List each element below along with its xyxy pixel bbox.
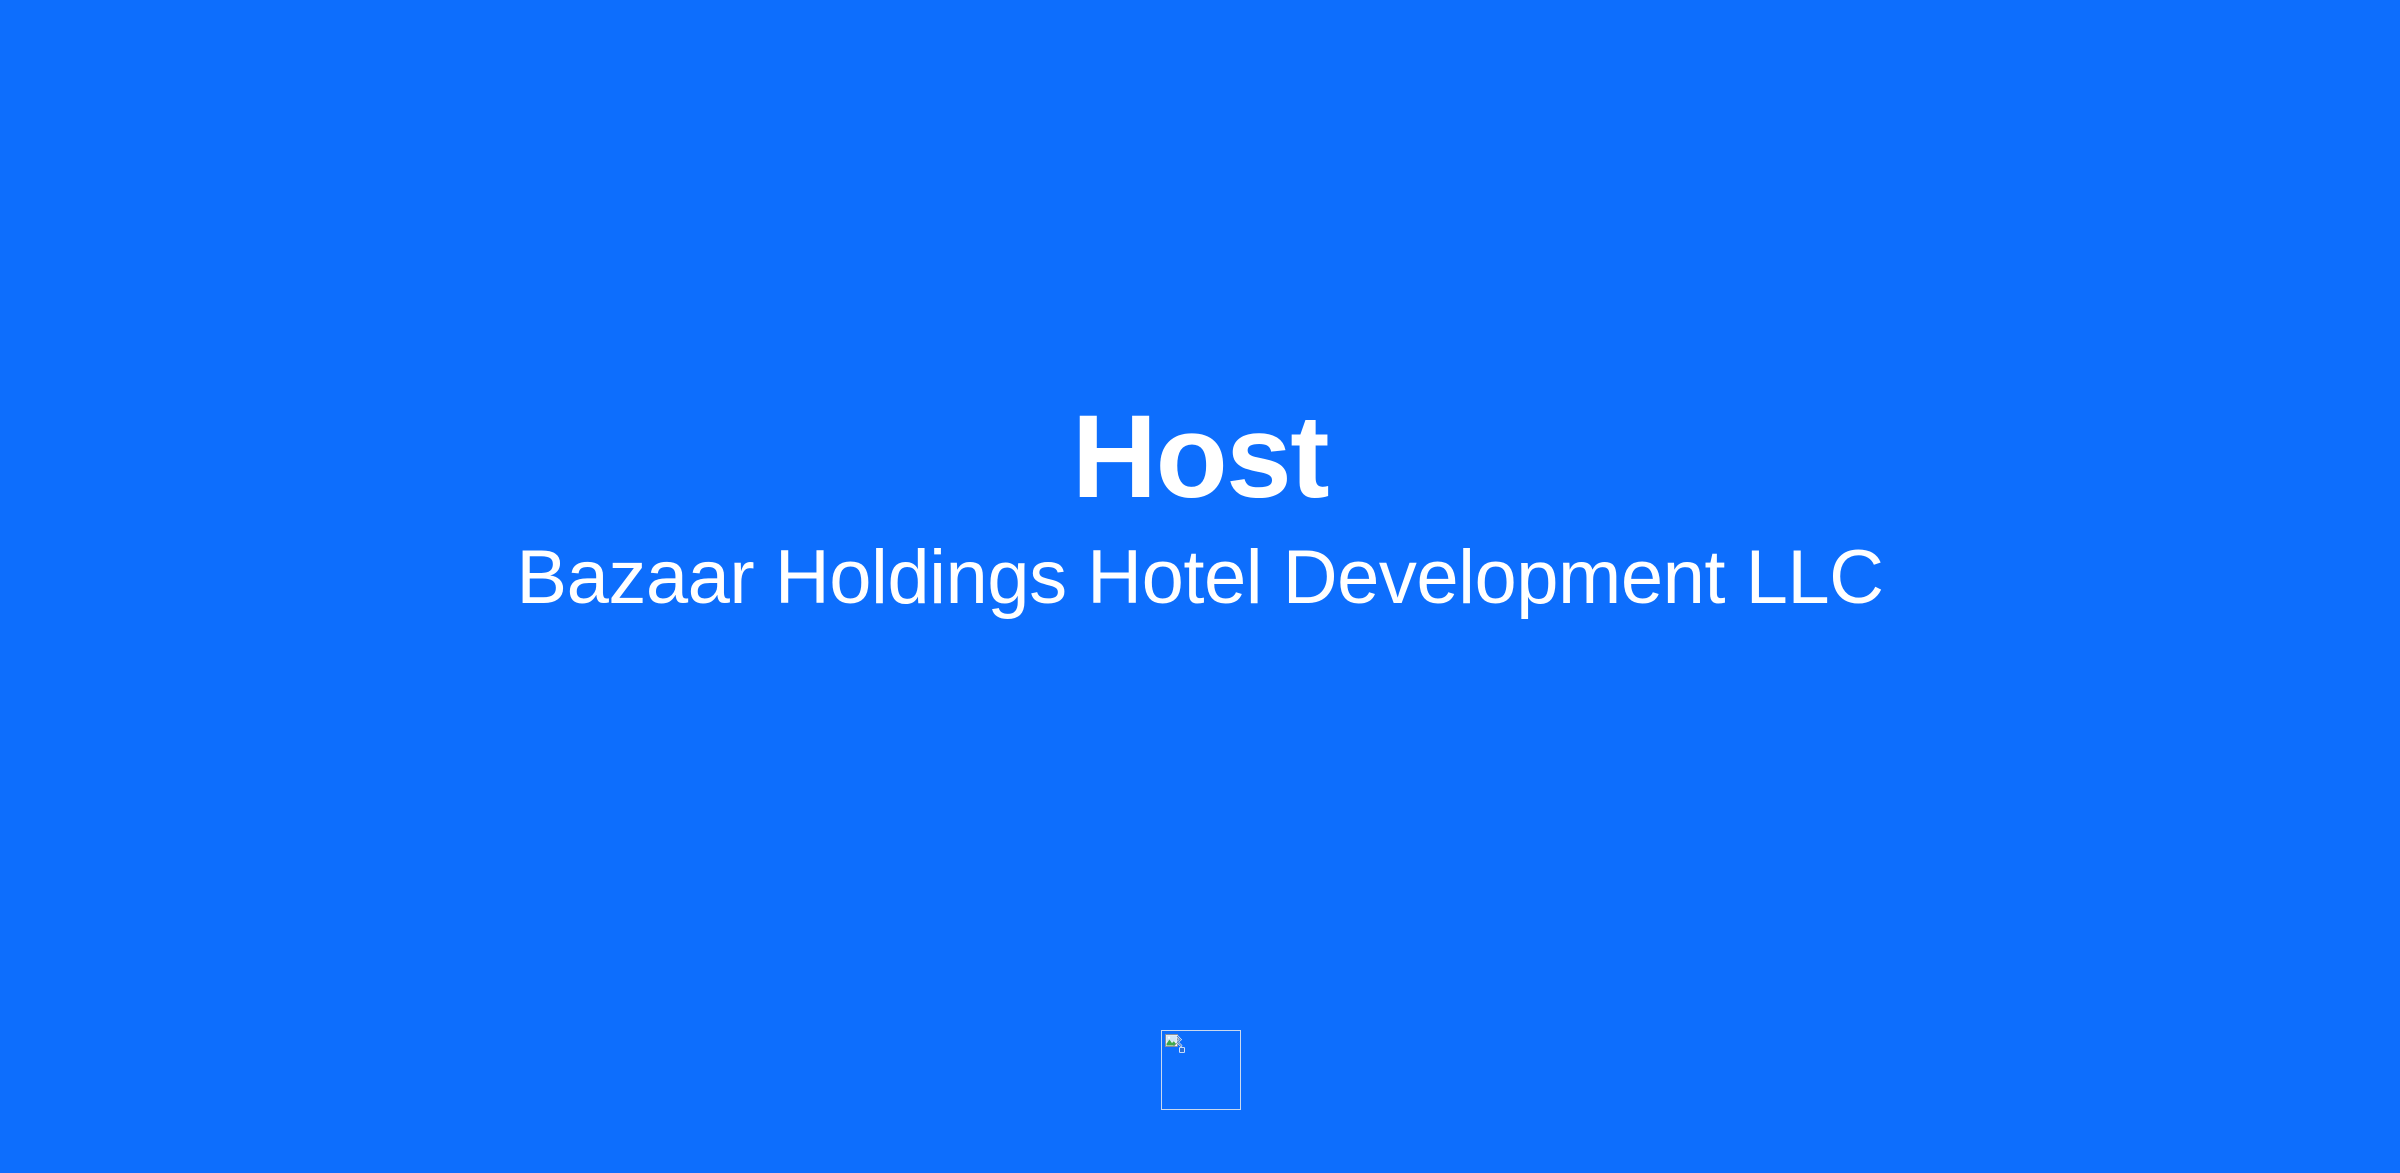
page-title: Host — [1072, 398, 1328, 516]
hero-text-block: Host Bazaar Holdings Hotel Development L… — [0, 0, 2400, 1173]
broken-image-placeholder[interactable] — [1161, 1030, 1241, 1110]
slide-root: Host Bazaar Holdings Hotel Development L… — [0, 0, 2400, 1173]
page-subtitle: Bazaar Holdings Hotel Development LLC — [516, 540, 1883, 616]
broken-image-icon — [1164, 1033, 1186, 1055]
